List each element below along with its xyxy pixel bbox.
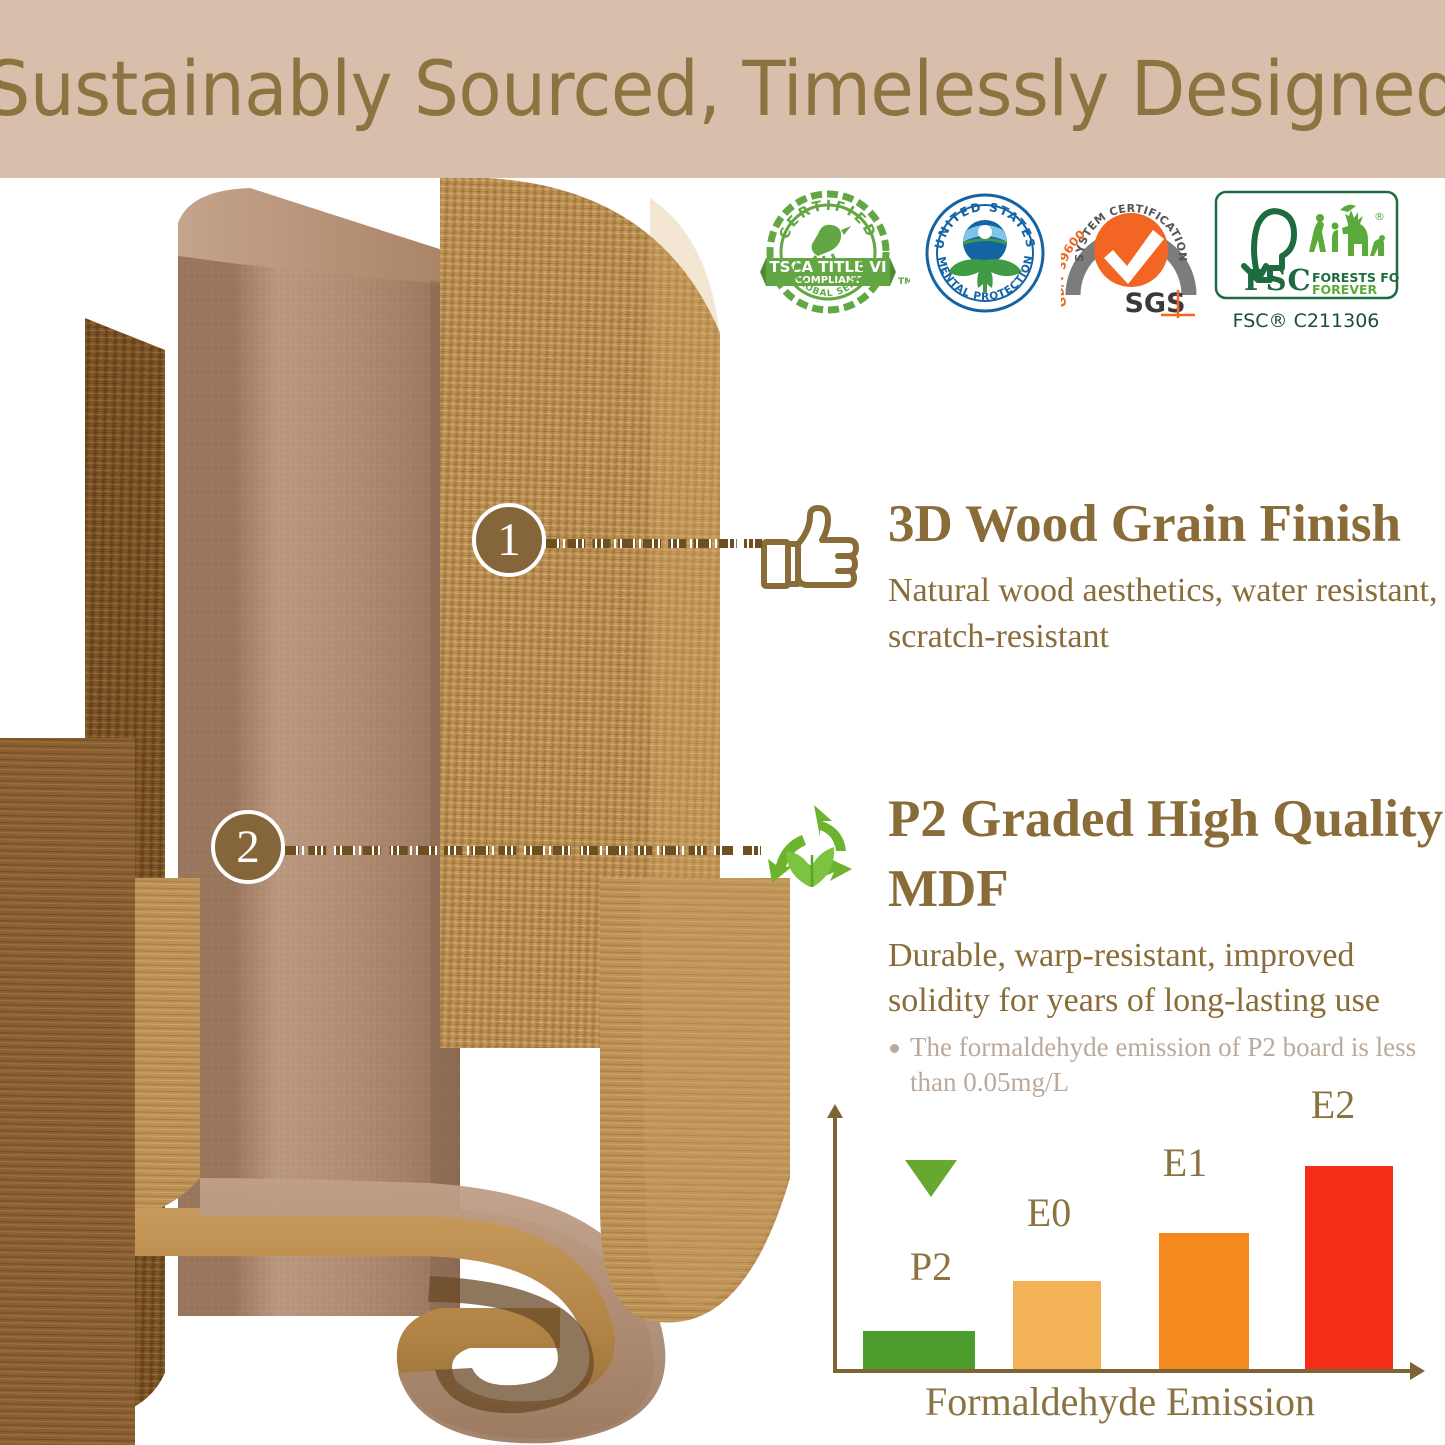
epa-badge: • UNITED STATES • ENVIRONMENTAL PROTECTI… bbox=[918, 190, 1053, 325]
formaldehyde-emission-chart: P2 E0 E1 E2 Formaldehyde Emission bbox=[815, 1095, 1425, 1425]
thumbs-up-icon bbox=[760, 490, 870, 659]
tsca-trademark: TM bbox=[898, 277, 910, 287]
feature-title-2: P2 Graded High Quality MDF bbox=[888, 785, 1445, 925]
callout-number-2: 2 bbox=[236, 824, 260, 871]
callout-marker-2[interactable]: 2 bbox=[211, 810, 285, 884]
fsc-registered: ® bbox=[1374, 210, 1385, 223]
bullet-dot-icon bbox=[890, 1044, 899, 1053]
tsca-title-vi-badge: TSCA TITLE VI COMPLIANT TM CERTIFIED SCS… bbox=[760, 190, 910, 325]
fsc-tagline-2: FOREVER bbox=[1312, 282, 1378, 297]
chart-bar-label-e2: E2 bbox=[1283, 1085, 1383, 1125]
callout-line-1 bbox=[542, 539, 762, 548]
content-column: TSCA TITLE VI COMPLIANT TM CERTIFIED SCS… bbox=[760, 190, 1445, 1445]
chart-y-axis bbox=[833, 1115, 837, 1373]
chart-p2-marker-icon bbox=[905, 1160, 957, 1197]
chart-bar-e1 bbox=[1159, 1233, 1249, 1369]
fsc-brand: FSC bbox=[1244, 263, 1312, 297]
fsc-code: FSC® C211306 bbox=[1233, 310, 1380, 332]
tsca-main-text: TSCA TITLE VI bbox=[769, 258, 886, 276]
recycle-leaf-icon bbox=[760, 785, 870, 1100]
chart-x-axis-label: Formaldehyde Emission bbox=[815, 1378, 1425, 1425]
page-title: Sustainably Sourced, Timelessly Designed bbox=[0, 51, 1445, 127]
wood-panel-bottom-left bbox=[0, 738, 195, 1445]
chart-bar-e0 bbox=[1013, 1281, 1101, 1369]
product-image: 1 2 bbox=[0, 178, 790, 1445]
feature-block-2: P2 Graded High Quality MDF Durable, warp… bbox=[760, 785, 1445, 1100]
chart-bar-label-e0: E0 bbox=[999, 1193, 1099, 1233]
chart-bar-p2 bbox=[863, 1331, 975, 1369]
chart-x-axis bbox=[833, 1369, 1413, 1373]
header-banner: Sustainably Sourced, Timelessly Designed bbox=[0, 0, 1445, 178]
fsc-badge: ® FSC FORESTS FOR ALL FOREVER FSC® C2113… bbox=[1214, 190, 1399, 343]
certification-badges: TSCA TITLE VI COMPLIANT TM CERTIFIED SCS… bbox=[760, 190, 1445, 340]
chart-bar-e2 bbox=[1305, 1166, 1393, 1369]
callout-line-2 bbox=[281, 846, 761, 855]
chart-bar-label-e1: E1 bbox=[1135, 1143, 1235, 1183]
sgs-badge: SYSTEM CERTIFICATION GB/T 39600-2021 SGS bbox=[1061, 190, 1206, 325]
feature-title-1: 3D Wood Grain Finish bbox=[888, 490, 1445, 560]
infographic-page: Sustainably Sourced, Timelessly Designed bbox=[0, 0, 1445, 1445]
feature-description-1: Natural wood aesthetics, water resistant… bbox=[888, 568, 1445, 659]
callout-marker-1[interactable]: 1 bbox=[472, 503, 546, 577]
chart-bar-label-p2: P2 bbox=[881, 1247, 981, 1287]
feature-description-2: Durable, warp-resistant, improved solidi… bbox=[888, 933, 1445, 1024]
feature-block-1: 3D Wood Grain Finish Natural wood aesthe… bbox=[760, 490, 1445, 659]
callout-number-1: 1 bbox=[497, 517, 521, 564]
chart-plot-area: P2 E0 E1 E2 bbox=[833, 1111, 1425, 1373]
